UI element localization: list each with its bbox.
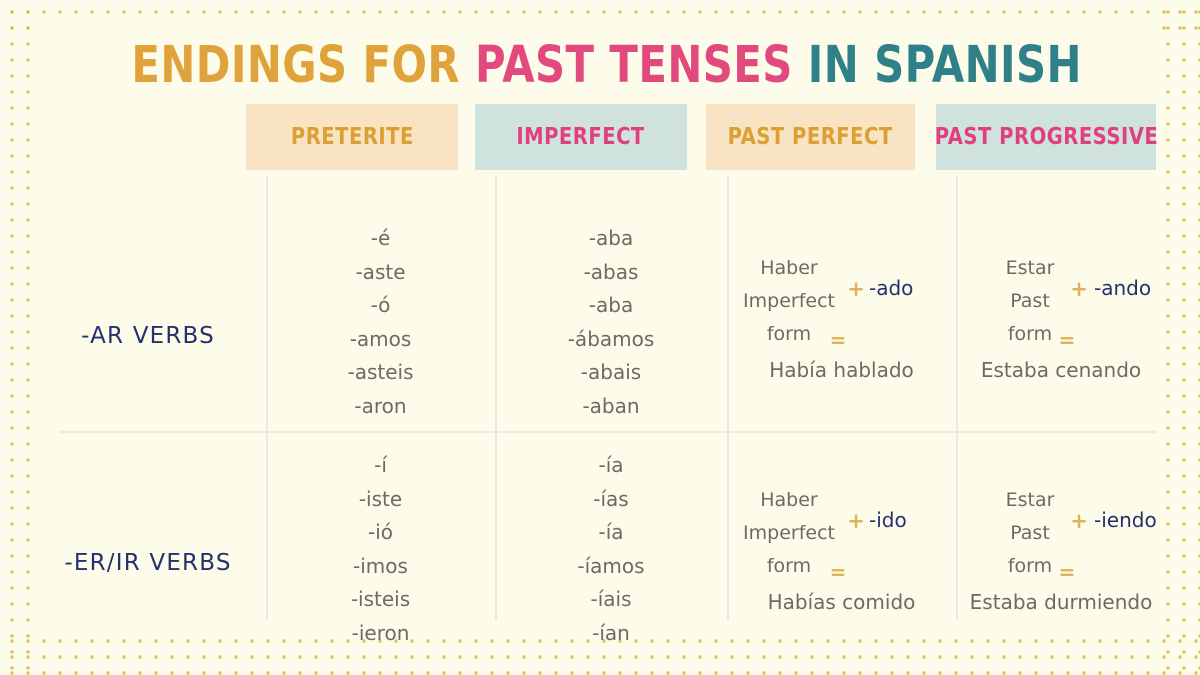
formula-example: Había hablado — [727, 358, 956, 382]
cell-past-progressive-ar: EstarPastform + -ando = Estaba cenando — [956, 252, 1156, 356]
equals-symbol: = — [1052, 560, 1082, 584]
column-header-label: PAST PERFECT — [728, 124, 893, 150]
cell-past-perfect-er-ir: HaberImperfectform + -ido = Habías comid… — [727, 484, 956, 588]
formula-suffix: -ado — [869, 276, 913, 300]
formula-suffix: -ido — [869, 508, 907, 532]
title-segment-past-tenses: PAST TENSES — [475, 36, 793, 95]
formula-example: Estaba cenando — [956, 358, 1166, 382]
plus-symbol: + — [845, 277, 867, 301]
plus-symbol: + — [1068, 509, 1090, 533]
column-header-imperfect: IMPERFECT — [475, 104, 687, 170]
column-header-label: PRETERITE — [290, 124, 413, 150]
grid-line-horizontal — [60, 431, 1156, 433]
infographic-poster: ENDINGS FOR PAST TENSES IN SPANISH PRETE… — [0, 0, 1200, 675]
tenses-table: PRETERITE IMPERFECT PAST PERFECT PAST PR… — [30, 104, 1156, 620]
column-header-label: IMPERFECT — [517, 124, 645, 150]
formula-suffix: -ando — [1094, 276, 1151, 300]
formula-suffix: -iendo — [1094, 508, 1157, 532]
plus-symbol: + — [1068, 277, 1090, 301]
row-label-ar-verbs: -AR VERBS — [30, 323, 266, 349]
table-header-row: PRETERITE IMPERFECT PAST PERFECT PAST PR… — [246, 104, 1156, 174]
column-header-label: PAST PROGRESSIVE — [934, 124, 1158, 150]
plus-symbol: + — [845, 509, 867, 533]
equals-symbol: = — [823, 328, 853, 352]
dotted-border-left — [0, 0, 30, 675]
cell-past-progressive-er-ir: EstarPastform + -iendo = Estaba durmiend… — [956, 484, 1156, 588]
equals-symbol: = — [823, 560, 853, 584]
formula-example: Estaba durmiendo — [956, 590, 1166, 614]
column-header-preterite: PRETERITE — [246, 104, 458, 170]
poster-canvas: ENDINGS FOR PAST TENSES IN SPANISH PRETE… — [30, 26, 1156, 630]
cell-imperfect-ar: -aba-abas-aba-ábamos-abais-aban — [495, 222, 727, 423]
cell-preterite-er-ir: -í-iste-ió-imos-isteis-ieron — [266, 449, 495, 650]
title-segment-endings-for: ENDINGS FOR — [131, 36, 475, 95]
cell-past-perfect-ar: HaberImperfectform + -ado = Había hablad… — [727, 252, 956, 356]
column-header-past-progressive: PAST PROGRESSIVE — [936, 104, 1156, 170]
cell-preterite-ar: -é-aste-ó-amos-asteis-aron — [266, 222, 495, 423]
cell-imperfect-er-ir: -ía-ías-ía-íamos-íais-ían — [495, 449, 727, 650]
row-label-er-ir-verbs: -ER/IR VERBS — [30, 550, 266, 576]
page-title: ENDINGS FOR PAST TENSES IN SPANISH — [131, 40, 1054, 91]
dotted-border-right — [1156, 0, 1200, 675]
formula-example: Habías comido — [727, 590, 956, 614]
title-segment-in-spanish: IN SPANISH — [793, 36, 1082, 95]
equals-symbol: = — [1052, 328, 1082, 352]
column-header-past-perfect: PAST PERFECT — [706, 104, 915, 170]
